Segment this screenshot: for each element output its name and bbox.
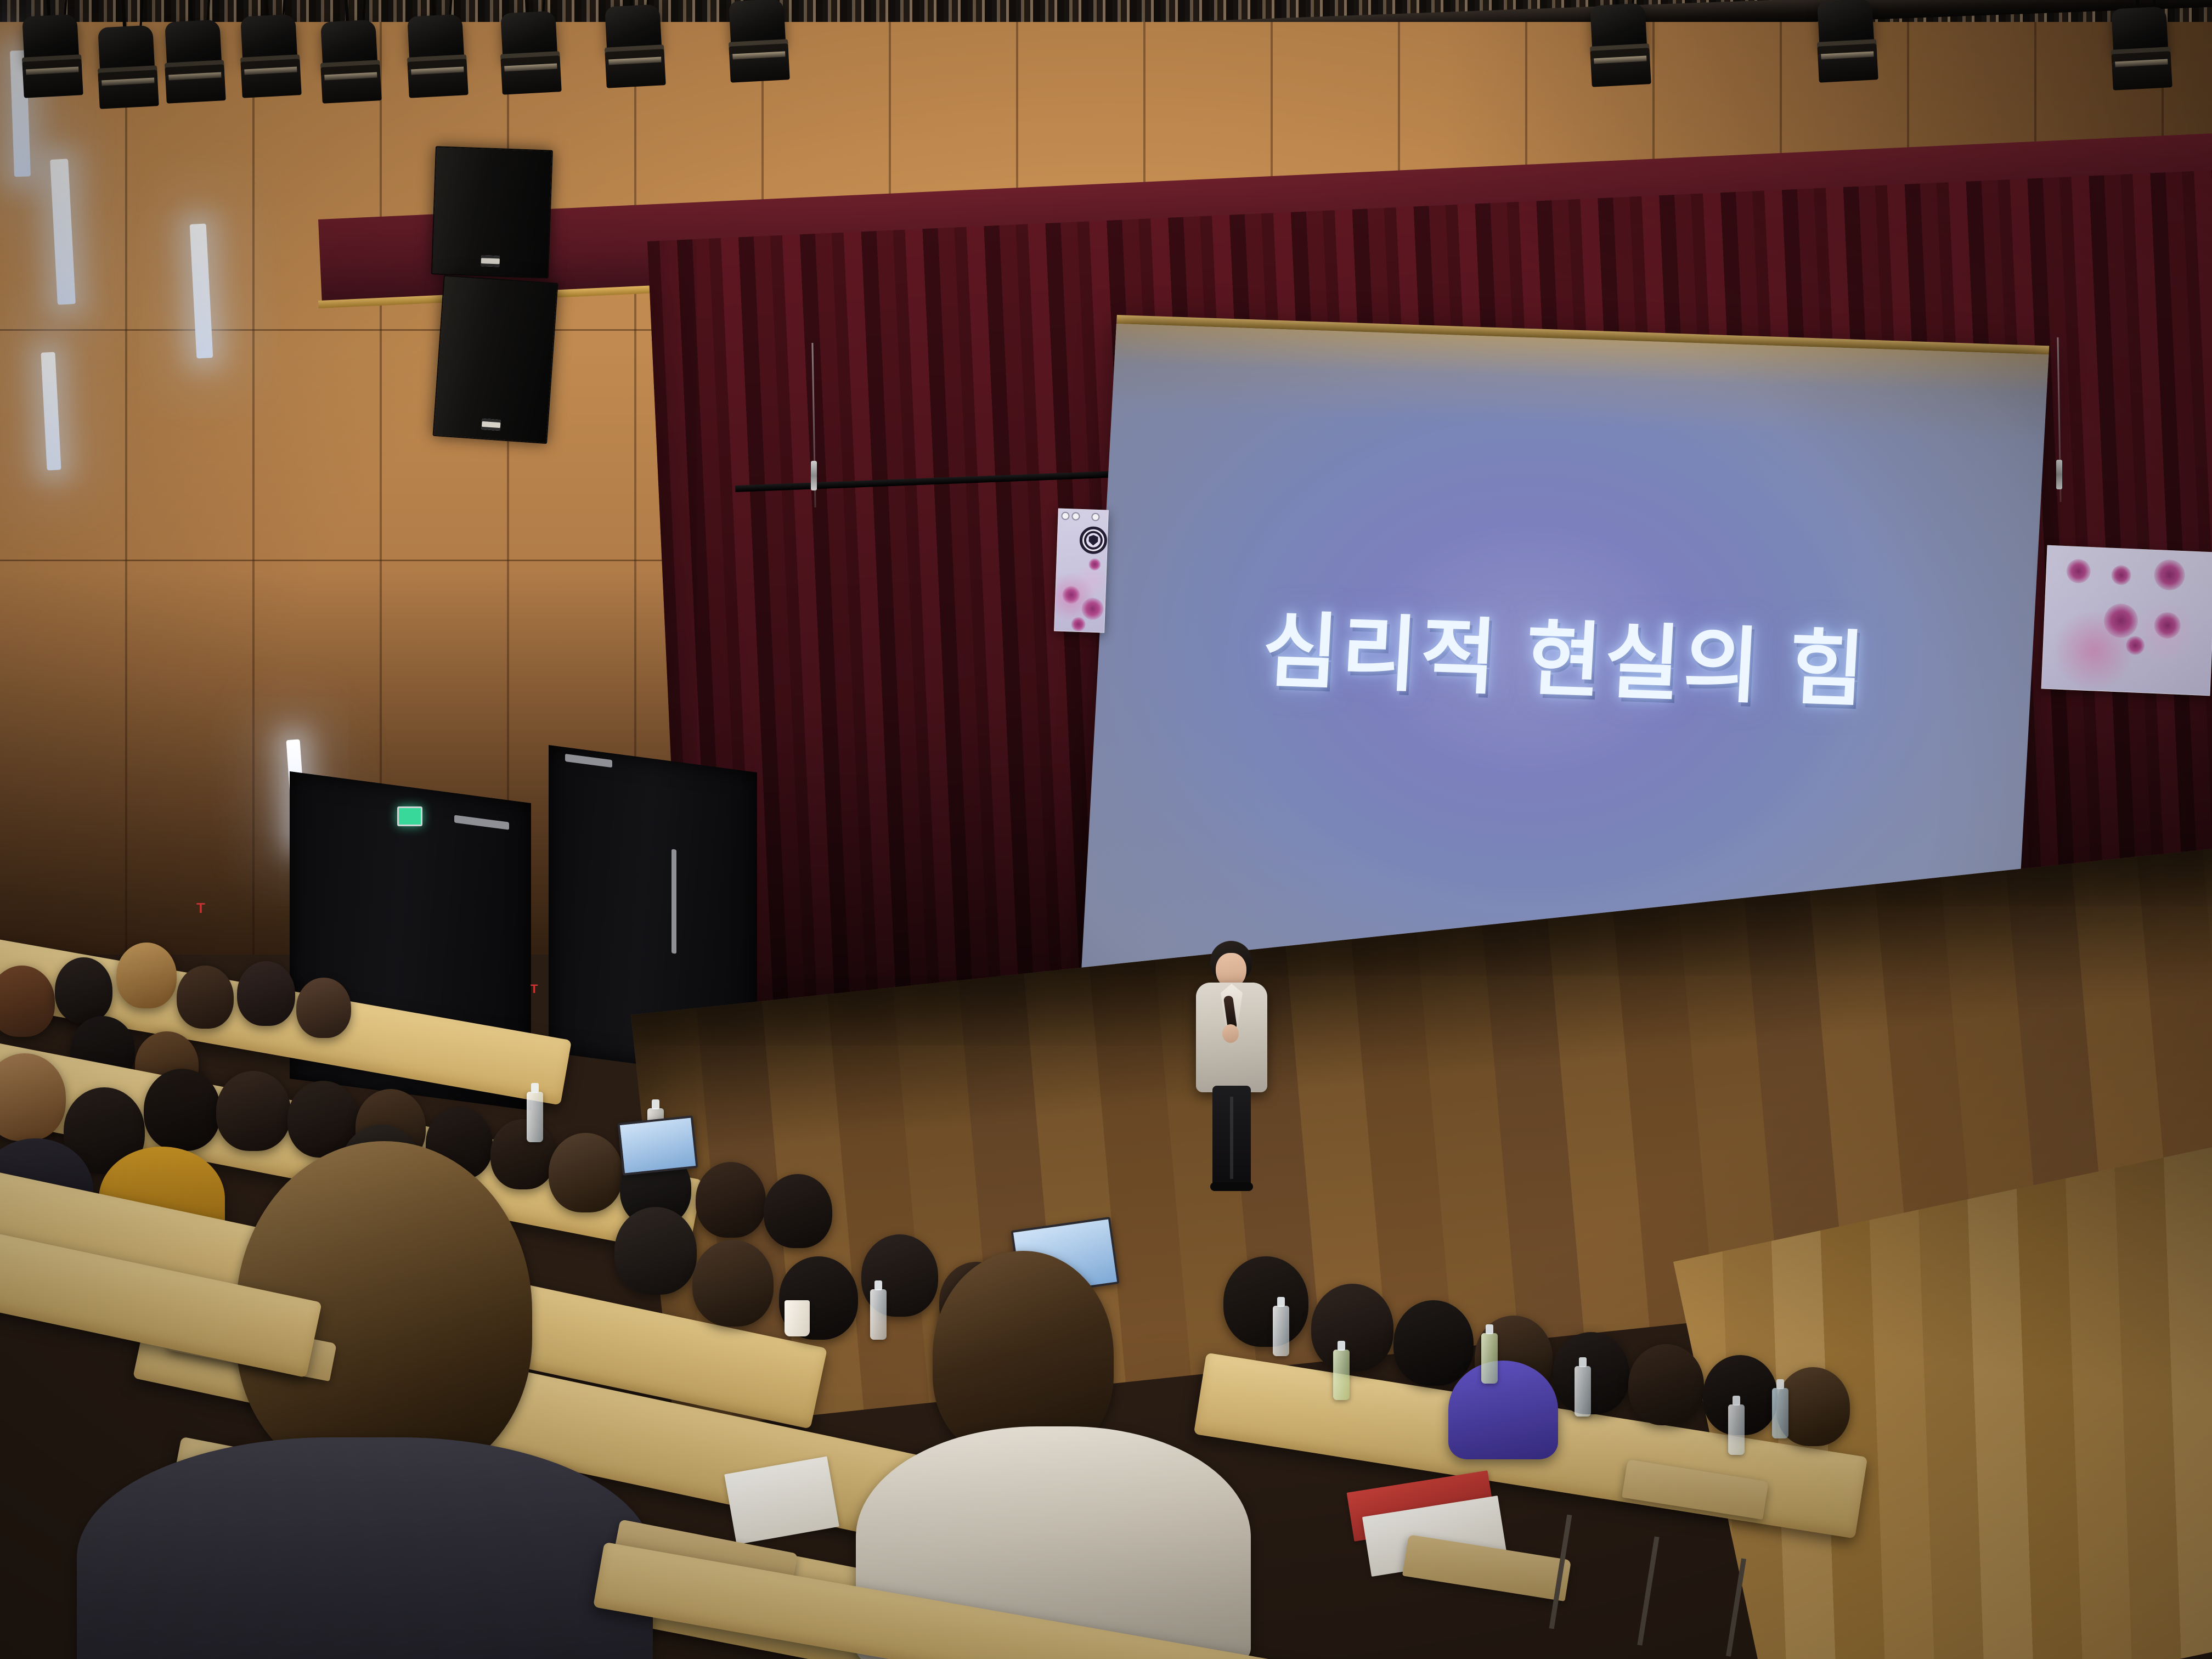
- speaker-box-top: [431, 146, 553, 278]
- audience-head: [614, 1207, 697, 1295]
- audience-head: [296, 978, 351, 1038]
- speaker-box-bottom: [433, 275, 558, 444]
- audience-head: [490, 1119, 555, 1189]
- audience-head: [1311, 1284, 1393, 1372]
- banner-grommet: [1071, 512, 1080, 521]
- stage-light-fixture-7: [498, 10, 562, 95]
- stage-light-fixture-10: [1588, 3, 1651, 88]
- audience-head: [237, 961, 295, 1026]
- chair-leg: [1637, 1537, 1659, 1646]
- audience-head: [549, 1133, 623, 1212]
- audience-head: [1223, 1256, 1308, 1347]
- presenter-shoes: [1210, 1182, 1253, 1191]
- water-bottle: [1333, 1350, 1350, 1400]
- audience-torso: [1448, 1361, 1558, 1459]
- presenter-hand: [1222, 1024, 1239, 1043]
- door-push-bar[interactable]: [672, 849, 676, 953]
- audience-head: [1393, 1300, 1474, 1386]
- audience-laptop: [617, 1115, 698, 1176]
- stage-light-fixture-3: [162, 19, 226, 104]
- stage-light-fixture-9: [726, 0, 790, 84]
- stage-banner-right: [2041, 545, 2212, 696]
- audience-head: [692, 1240, 774, 1327]
- batten-turnbuckle-left: [811, 461, 817, 490]
- stage-banner-left: [1054, 508, 1109, 633]
- speaker-badge-icon: [481, 419, 500, 431]
- audience-head: [696, 1162, 766, 1238]
- door-handle[interactable]: [454, 815, 509, 830]
- cherry-blossom-icon: [2153, 559, 2185, 591]
- audience-head: [177, 966, 234, 1029]
- cherry-blossom-icon: [2154, 612, 2181, 639]
- stage-light-fixture-1: [20, 14, 83, 99]
- cherry-blossom-icon: [2125, 636, 2145, 655]
- speaker-badge-icon: [481, 255, 500, 267]
- auditorium-photo: T T 심리적 현실의 힘: [0, 0, 2212, 1659]
- chair-leg: [1726, 1558, 1746, 1656]
- audience-head: [116, 943, 177, 1008]
- presenter-trousers: [1212, 1086, 1251, 1188]
- audience-head: [216, 1071, 291, 1151]
- line-array-speaker: [420, 146, 562, 589]
- stage-light-fixture-8: [602, 4, 666, 89]
- cherry-blossom-icon: [1081, 597, 1104, 620]
- audience-head: [55, 957, 112, 1023]
- cherry-blossom-icon: [1071, 617, 1086, 631]
- banner-grommet: [1061, 512, 1070, 521]
- stage-light-fixture-11: [1815, 0, 1878, 84]
- floor-marker-icon: T: [531, 982, 538, 996]
- water-bottle: [1481, 1333, 1498, 1384]
- coffee-cup: [785, 1300, 810, 1336]
- presenter-speaker: [1190, 941, 1273, 1193]
- stage-light-fixture-4: [238, 14, 302, 99]
- audience-head: [144, 1069, 221, 1151]
- audience-torso-foreground-left: [77, 1437, 653, 1659]
- cherry-blossom-icon: [2103, 603, 2139, 639]
- water-bottle: [1273, 1306, 1289, 1356]
- door-handle[interactable]: [565, 754, 612, 768]
- emergency-exit-sign-icon: [397, 806, 422, 826]
- cherry-blossom-icon: [2066, 558, 2091, 584]
- audience-head: [1553, 1332, 1629, 1414]
- stage-light-fixture-12: [2109, 6, 2172, 91]
- banner-grommet: [1091, 513, 1100, 522]
- cherry-blossom-icon: [1062, 586, 1080, 604]
- water-bottle: [1575, 1366, 1591, 1417]
- water-bottle: [1728, 1404, 1745, 1455]
- university-crest-icon: [1079, 526, 1108, 555]
- cherry-blossom-icon: [1088, 558, 1101, 571]
- cherry-blossom-icon: [2111, 565, 2131, 585]
- stage-light-fixture-5: [318, 19, 382, 104]
- water-bottle: [1772, 1388, 1788, 1438]
- audience-head: [764, 1174, 832, 1248]
- batten-turnbuckle-right: [2056, 460, 2062, 489]
- audience-head: [1628, 1344, 1704, 1425]
- water-bottle: [870, 1289, 887, 1340]
- water-bottle: [527, 1092, 543, 1142]
- stage-light-fixture-2: [95, 25, 159, 110]
- stage-light-fixture-6: [405, 14, 469, 99]
- floor-marker-icon: T: [196, 900, 205, 917]
